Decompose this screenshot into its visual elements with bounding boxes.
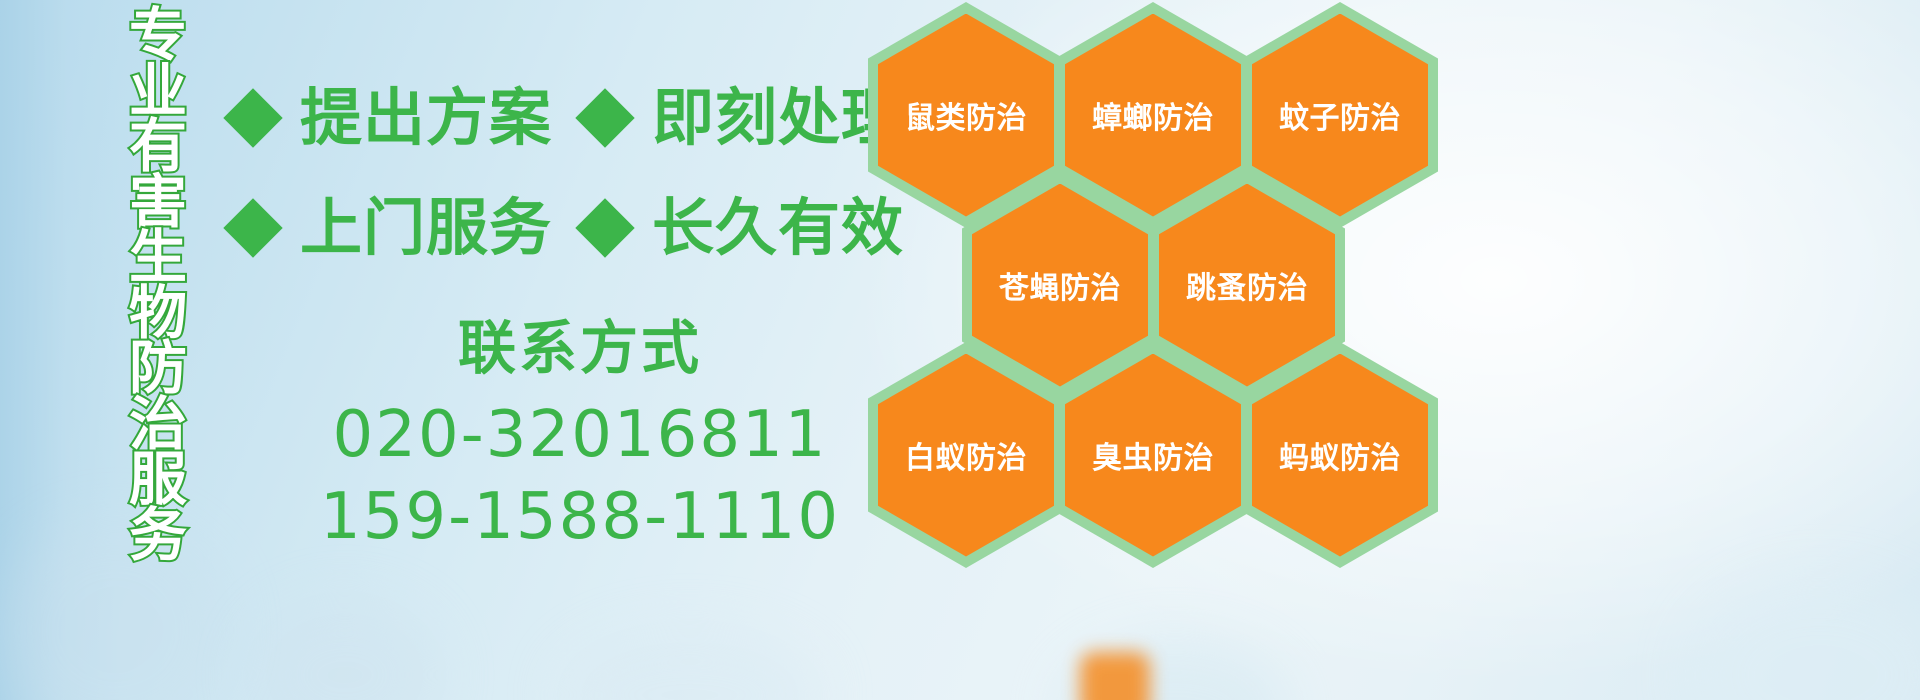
background-blob xyxy=(250,600,440,700)
diamond-icon xyxy=(575,88,634,147)
background-orange-accent xyxy=(1080,652,1150,700)
hex-inner: 蚊子防治 xyxy=(1252,14,1428,217)
feature-label: 上门服务 xyxy=(300,196,552,260)
service-label: 鼠类防治 xyxy=(905,93,1027,137)
feature-row-1: 提出方案 即刻处理 xyxy=(232,86,904,150)
phone-number-landline[interactable]: 020-32016811 xyxy=(300,396,860,474)
service-label: 蟑螂防治 xyxy=(1092,93,1214,137)
diamond-icon xyxy=(575,198,634,257)
vertical-headline-char: 物 xyxy=(129,286,187,342)
service-label: 蚂蚁防治 xyxy=(1279,433,1401,477)
hex-inner: 鼠类防治 xyxy=(878,14,1054,217)
hex-inner: 白蚁防治 xyxy=(878,354,1054,557)
service-label: 蚊子防治 xyxy=(1279,93,1401,137)
vertical-headline: 专 业 有 害 生 物 防 治 服 务 xyxy=(106,8,210,568)
service-label: 白蚁防治 xyxy=(905,433,1027,477)
vertical-headline-char: 治 xyxy=(129,397,187,453)
vertical-headline-char: 业 xyxy=(129,64,187,120)
service-label: 苍蝇防治 xyxy=(999,263,1121,307)
hex-inner: 跳蚤防治 xyxy=(1159,184,1335,387)
vertical-headline-char: 害 xyxy=(129,175,187,231)
background-blob xyxy=(560,630,820,700)
phone-number-mobile[interactable]: 159-1588-1110 xyxy=(300,478,860,556)
background-blob xyxy=(1690,580,1920,700)
hex-inner: 苍蝇防治 xyxy=(972,184,1148,387)
contact-label: 联系方式 xyxy=(300,312,860,384)
feature-row-2: 上门服务 长久有效 xyxy=(232,196,904,260)
hex-inner: 蟑螂防治 xyxy=(1065,14,1241,217)
vertical-headline-char: 服 xyxy=(129,452,187,508)
promo-banner: 专 业 有 害 生 物 防 治 服 务 提出方案 即刻处理 上门服务 长久有效 … xyxy=(0,0,1920,700)
diamond-icon xyxy=(223,88,282,147)
vertical-headline-char: 防 xyxy=(129,341,187,397)
vertical-headline-char: 有 xyxy=(129,119,187,175)
feature-label: 提出方案 xyxy=(300,86,552,150)
hex-inner: 臭虫防治 xyxy=(1065,354,1241,557)
left-haze-overlay xyxy=(0,0,120,700)
service-label: 臭虫防治 xyxy=(1092,433,1214,477)
vertical-headline-char: 务 xyxy=(129,508,187,564)
vertical-headline-char: 专 xyxy=(129,8,187,64)
contact-block: 联系方式 020-32016811 159-1588-1110 xyxy=(300,312,860,556)
service-honeycomb: 鼠类防治 蟑螂防治 蚊子防治 苍蝇防治 跳蚤防治 白蚁防治 xyxy=(862,0,1462,572)
vertical-headline-char: 生 xyxy=(129,230,187,286)
hex-inner: 蚂蚁防治 xyxy=(1252,354,1428,557)
service-label: 跳蚤防治 xyxy=(1186,263,1308,307)
diamond-icon xyxy=(223,198,282,257)
